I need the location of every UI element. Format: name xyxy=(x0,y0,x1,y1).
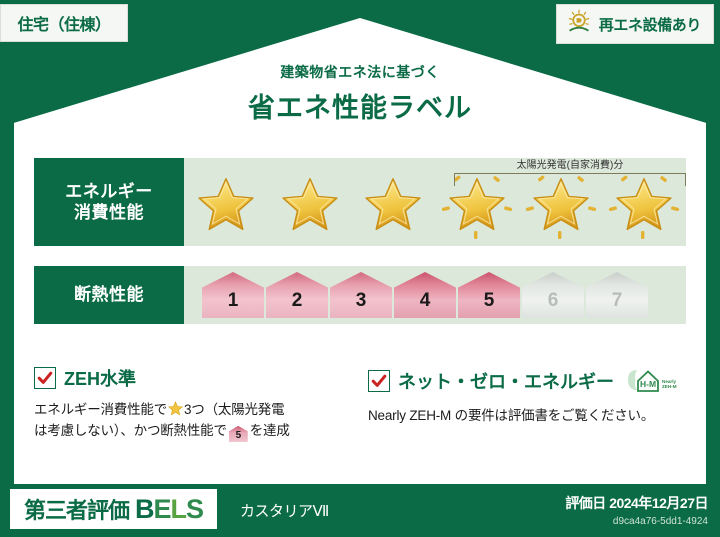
zeh-m-logo-icon: H-M Nearly ZEH-M xyxy=(624,365,682,397)
bels-certification-badge: 第三者評価 BELS xyxy=(10,489,217,529)
chip-number: 3 xyxy=(356,290,367,318)
energy-performance-body: 太陽光発電(自家消費)分 xyxy=(184,158,686,246)
title-block: 建築物省エネ法に基づく 省エネ性能ラベル xyxy=(0,62,720,125)
bels-letter-l: L xyxy=(171,494,187,524)
checkbox-checked-icon xyxy=(34,367,56,389)
solar-annotation-bracket xyxy=(454,173,686,186)
solar-annotation: 太陽光発電(自家消費)分 xyxy=(454,156,686,186)
zeh-standard-header: ZEH水準 xyxy=(34,365,344,391)
energy-label-line2: 消費性能 xyxy=(74,202,144,223)
chip-number: 1 xyxy=(228,290,239,318)
star-icon xyxy=(281,177,339,233)
insulation-chip-1: 1 xyxy=(202,272,264,318)
evaluation-id: d9ca4a76-5dd1-4924 xyxy=(565,516,708,527)
evaluation-date: 評価日 2024年12月27日 xyxy=(565,493,708,513)
inline-star-icon xyxy=(168,401,183,416)
third-party-eval-label: 第三者評価 xyxy=(24,493,129,525)
svg-text:H-M: H-M xyxy=(640,379,656,389)
insulation-chip-2: 2 xyxy=(266,272,328,318)
zeh-body-star-count: 3つ（太陽光発電 xyxy=(184,402,284,417)
insulation-chip-6: 6 xyxy=(522,272,584,318)
zeh-body-part2: は考慮しない）、かつ断熱性能で xyxy=(34,423,227,438)
insulation-chip-7: 7 xyxy=(586,272,648,318)
title-subtitle: 建築物省エネ法に基づく xyxy=(0,62,720,82)
bels-letter-s: S xyxy=(186,494,203,524)
chip-number: 4 xyxy=(420,290,431,318)
net-zero-energy-section: ネット・ゼロ・エネルギー H-M Nearly ZEH-M Nearly ZEH… xyxy=(368,365,688,427)
zeh-body-part3: を達成 xyxy=(250,423,290,438)
building-name: カスタリアⅦ xyxy=(240,500,329,521)
star-icon xyxy=(364,177,422,233)
zeh-standard-body: エネルギー消費性能で3つ（太陽光発電は考慮しない）、かつ断熱性能で5を達成 xyxy=(34,400,344,442)
net-zero-energy-title: ネット・ゼロ・エネルギー xyxy=(398,368,614,394)
zeh-standard-section: ZEH水準 エネルギー消費性能で3つ（太陽光発電は考慮しない）、かつ断熱性能で5… xyxy=(34,365,344,442)
energy-star-1 xyxy=(184,168,268,242)
badge-building-type: 住宅（住棟） xyxy=(0,4,128,42)
solar-sun-icon xyxy=(565,8,593,41)
energy-performance-row: エネルギー 消費性能 太陽光発電(自家消費)分 xyxy=(34,158,686,246)
chip-number: 5 xyxy=(484,290,495,318)
bels-letter-e: E xyxy=(154,494,171,524)
zeh-body-part1: エネルギー消費性能で xyxy=(34,402,167,417)
energy-label-line1: エネルギー xyxy=(65,181,153,202)
insulation-performance-row: 断熱性能 1234567 xyxy=(34,266,686,324)
insulation-performance-label: 断熱性能 xyxy=(34,266,184,324)
chip-number: 6 xyxy=(548,290,559,318)
badge-renewable-label: 再エネ設備あり xyxy=(599,14,701,35)
energy-star-3 xyxy=(351,168,435,242)
page-title: 省エネ性能ラベル xyxy=(0,86,720,125)
energy-star-2 xyxy=(268,168,352,242)
insulation-chip-5: 5 xyxy=(458,272,520,318)
badge-renewable-equipment: 再エネ設備あり xyxy=(556,4,714,44)
bels-logo: BELS xyxy=(135,494,203,525)
svg-text:ZEH-M: ZEH-M xyxy=(662,384,677,389)
insulation-grade-chips: 1234567 xyxy=(184,266,686,324)
insulation-label-text: 断熱性能 xyxy=(74,284,144,305)
checkbox-checked-icon xyxy=(368,370,390,392)
insulation-chip-4: 4 xyxy=(394,272,456,318)
star-icon xyxy=(197,177,255,233)
chip-number: 2 xyxy=(292,290,303,318)
inline-insulation-chip: 5 xyxy=(229,426,248,442)
insulation-chip-3: 3 xyxy=(330,272,392,318)
chip-number: 7 xyxy=(612,290,623,318)
bels-letter-b: B xyxy=(135,494,154,524)
net-zero-energy-body: Nearly ZEH-M の要件は評価書をご覧ください。 xyxy=(368,406,688,427)
zeh-standard-title: ZEH水準 xyxy=(64,365,136,391)
energy-performance-label: エネルギー 消費性能 xyxy=(34,158,184,246)
evaluation-info: 評価日 2024年12月27日 d9ca4a76-5dd1-4924 xyxy=(565,493,708,527)
net-zero-energy-header: ネット・ゼロ・エネルギー H-M Nearly ZEH-M xyxy=(368,365,688,397)
insulation-performance-body: 1234567 xyxy=(184,266,686,324)
solar-annotation-text: 太陽光発電(自家消費)分 xyxy=(454,156,686,171)
badge-building-type-label: 住宅（住棟） xyxy=(17,11,110,35)
inline-chip-value: 5 xyxy=(229,426,248,445)
